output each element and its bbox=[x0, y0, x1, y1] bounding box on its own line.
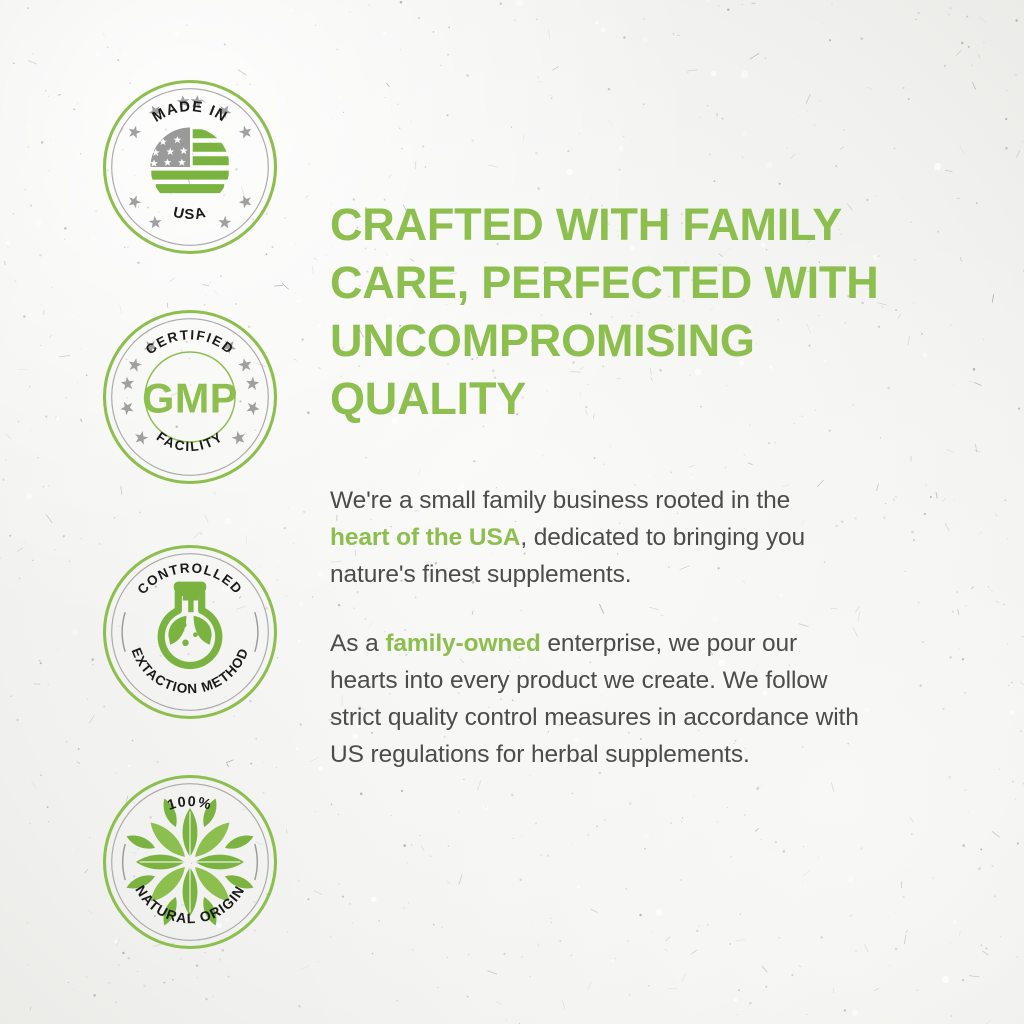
gmp-icon: GMP CERTIFIED FACILITY bbox=[100, 307, 280, 487]
badge-made-in-usa: MADE IN USA bbox=[100, 77, 280, 257]
right-arc-decoration bbox=[255, 612, 258, 652]
badge-gmp-certified: GMP CERTIFIED FACILITY bbox=[100, 307, 280, 487]
text-column: CRAFTED WITH FAMILY CARE, PERFECTED WITH… bbox=[330, 0, 1024, 1024]
flask-graphic bbox=[161, 582, 219, 666]
badge-bottom-label: FACILITY bbox=[154, 429, 226, 454]
badge-bottom-label: USA bbox=[172, 205, 209, 223]
left-arc-decoration bbox=[123, 844, 125, 880]
flask-icon: CONTROLLED EXTACTION METHOD bbox=[100, 542, 280, 722]
badge-column: MADE IN USA bbox=[0, 0, 330, 1024]
badge-natural-origin: 100% NATURAL ORIGIN bbox=[100, 772, 280, 952]
body-paragraph-2: As a family-owned enterprise, we pour ou… bbox=[330, 625, 870, 773]
paragraph-text: We're a small family business rooted in … bbox=[330, 487, 790, 514]
badge-controlled-extraction: CONTROLLED EXTACTION METHOD bbox=[100, 542, 280, 722]
promo-panel: MADE IN USA bbox=[0, 0, 1024, 1024]
page-title: CRAFTED WITH FAMILY CARE, PERFECTED WITH… bbox=[330, 196, 890, 428]
highlighted-phrase: heart of the USA bbox=[330, 524, 520, 551]
usa-flag-icon: MADE IN USA bbox=[100, 77, 280, 257]
badge-center-label: GMP bbox=[142, 375, 238, 421]
body-paragraph-1: We're a small family business rooted in … bbox=[330, 482, 850, 593]
badge-top-label: MADE IN bbox=[150, 99, 230, 126]
highlighted-phrase: family-owned bbox=[385, 630, 540, 657]
left-arc-decoration bbox=[122, 612, 125, 652]
flag-emblem bbox=[150, 127, 229, 193]
right-arc-decoration bbox=[255, 844, 257, 880]
badge-bottom-label: EXTACTION METHOD bbox=[129, 646, 252, 697]
leaf-rosette-graphic bbox=[125, 797, 256, 928]
paragraph-text: As a bbox=[330, 630, 385, 657]
leaf-rosette-icon: 100% NATURAL ORIGIN bbox=[100, 772, 280, 952]
badge-top-label: CERTIFIED bbox=[143, 327, 238, 357]
